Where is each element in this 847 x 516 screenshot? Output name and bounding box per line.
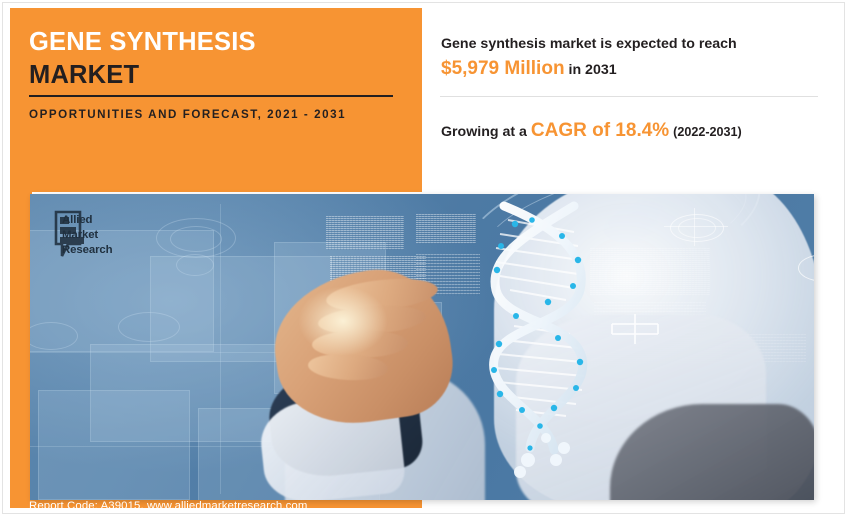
hud-ring-shape	[678, 218, 716, 238]
hud-microtext-block	[326, 216, 404, 250]
footer-report-code: Report Code: A39015, www.alliedmarketres…	[29, 500, 307, 512]
logo-text-line-3: Research	[62, 245, 113, 256]
title-block: GENE SYNTHESIS MARKET	[29, 26, 407, 92]
hero-image: Allied Market Research	[30, 194, 814, 500]
orange-accent-strip-left	[10, 180, 32, 508]
cagr-period: (2022-2031)	[673, 125, 742, 139]
title-divider	[29, 95, 393, 97]
market-value-year: in 2031	[569, 62, 617, 78]
market-value-amount: $5,979 Million	[441, 58, 565, 79]
hud-line-shape	[694, 208, 695, 246]
logo-text-line-1: Allied	[62, 215, 92, 226]
hud-ring-shape	[170, 226, 222, 252]
dna-helix-graphic	[470, 198, 620, 498]
market-value-prefix: Gene synthesis market is expected to rea…	[441, 36, 737, 52]
title-panel: GENE SYNTHESIS MARKET OPPORTUNITIES AND …	[10, 8, 422, 192]
report-subtitle: OPPORTUNITIES AND FORECAST, 2021 - 2031	[29, 105, 404, 124]
hud-ring-shape	[176, 254, 214, 276]
hud-line-shape	[664, 226, 728, 227]
market-value-statement: Gene synthesis market is expected to rea…	[441, 34, 823, 83]
cagr-prefix: Growing at a	[441, 124, 527, 140]
cagr-value: CAGR of 18.4%	[531, 120, 669, 141]
stats-divider	[440, 96, 818, 97]
report-title-line-1: GENE SYNTHESIS	[29, 26, 407, 59]
hud-line-shape	[220, 204, 221, 494]
report-infographic-page: GENE SYNTHESIS MARKET OPPORTUNITIES AND …	[0, 0, 847, 516]
logo-text-line-2: Market	[62, 230, 98, 241]
hud-ring-shape	[118, 312, 180, 342]
stats-panel: Gene synthesis market is expected to rea…	[425, 8, 837, 192]
cagr-statement: Growing at a CAGR of 18.4% (2022-2031)	[441, 120, 831, 142]
hud-panel-shape	[38, 390, 190, 500]
report-title-line-2: MARKET	[29, 59, 407, 92]
